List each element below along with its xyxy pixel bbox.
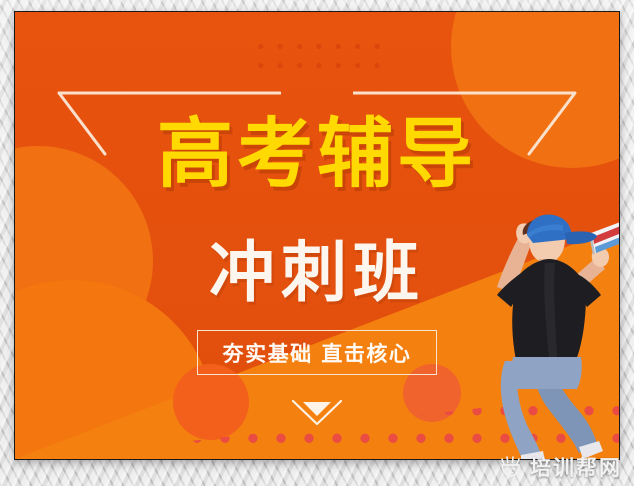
- jumping-student-illustration: [445, 197, 619, 459]
- watermark: 培训帮网: [495, 451, 626, 483]
- tagline-box: 夯实基础 直击核心: [197, 330, 437, 375]
- image-canvas: 高考辅导 冲刺班 夯实基础 直击核心: [0, 0, 634, 486]
- tagline-text: 夯实基础 直击核心: [223, 338, 412, 368]
- poster-title-main: 高考辅导: [15, 116, 619, 192]
- chevron-down-icon: [290, 397, 344, 427]
- smiling-sun-face-icon: [499, 456, 523, 478]
- dot-grid-top-icon: [251, 37, 389, 79]
- poster-background: 高考辅导 冲刺班 夯实基础 直击核心: [15, 12, 619, 459]
- watermark-text: 培训帮网: [530, 452, 622, 482]
- poster-frame: 高考辅导 冲刺班 夯实基础 直击核心: [14, 11, 620, 460]
- decorative-circle-bottom-left: [15, 280, 215, 459]
- decorative-circle-mid: [173, 364, 249, 440]
- poster-title-sub: 冲刺班: [15, 240, 619, 306]
